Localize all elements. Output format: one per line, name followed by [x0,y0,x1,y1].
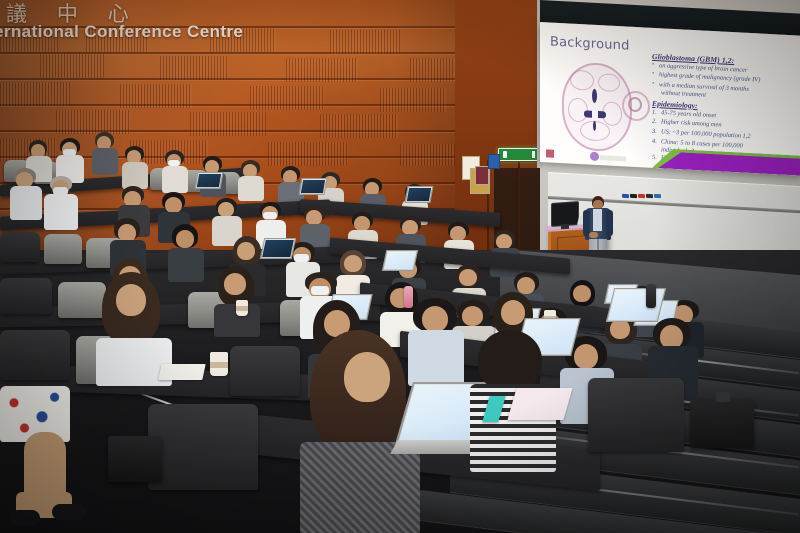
projection-screen: Background Glioblastoma (GBM) 1,2: an ag… [540,0,800,194]
podium-monitor [551,201,579,227]
marker-red [638,194,645,198]
seat [148,404,258,490]
list-number: 1. [652,108,657,118]
attendee [44,176,78,230]
handbag [108,436,162,482]
seat [0,330,70,380]
exit-sign-icon [498,148,540,161]
venue-sign-english: ernational Conference Centre [0,22,234,48]
seat [0,232,40,262]
seat [230,346,300,396]
lecture-hall-photo: 議 中 心 ernational Conference Centre Backg… [0,0,800,533]
seat [0,278,52,314]
wall-notice-3 [475,166,489,185]
seat [44,234,82,264]
notebook [158,364,205,380]
marker-blue [622,194,629,198]
attendee [162,150,188,192]
seat [588,378,684,452]
marker-black [630,194,637,198]
slide-title: Background [550,35,630,54]
presentation-slide: Background Glioblastoma (GBM) 1,2: an ag… [540,22,800,176]
coffee-cup [210,352,228,376]
tumbler [646,284,656,308]
attendee [122,146,148,188]
slide-logo-red [546,149,554,157]
luggage-handle [716,392,730,402]
attendee [10,168,42,220]
attendee [168,224,204,280]
marker-black-2 [646,194,653,198]
notebook-foreground [507,388,572,420]
list-number: 2. [652,117,657,127]
attendee [92,132,118,174]
luggage-bag [690,400,754,448]
slide-logo-purple [590,152,599,161]
marker-blue-2 [654,194,661,198]
attendee [238,160,264,200]
list-number: 3. [652,127,657,137]
wall-notice-blue [488,154,500,169]
coffee-cup [236,300,248,316]
